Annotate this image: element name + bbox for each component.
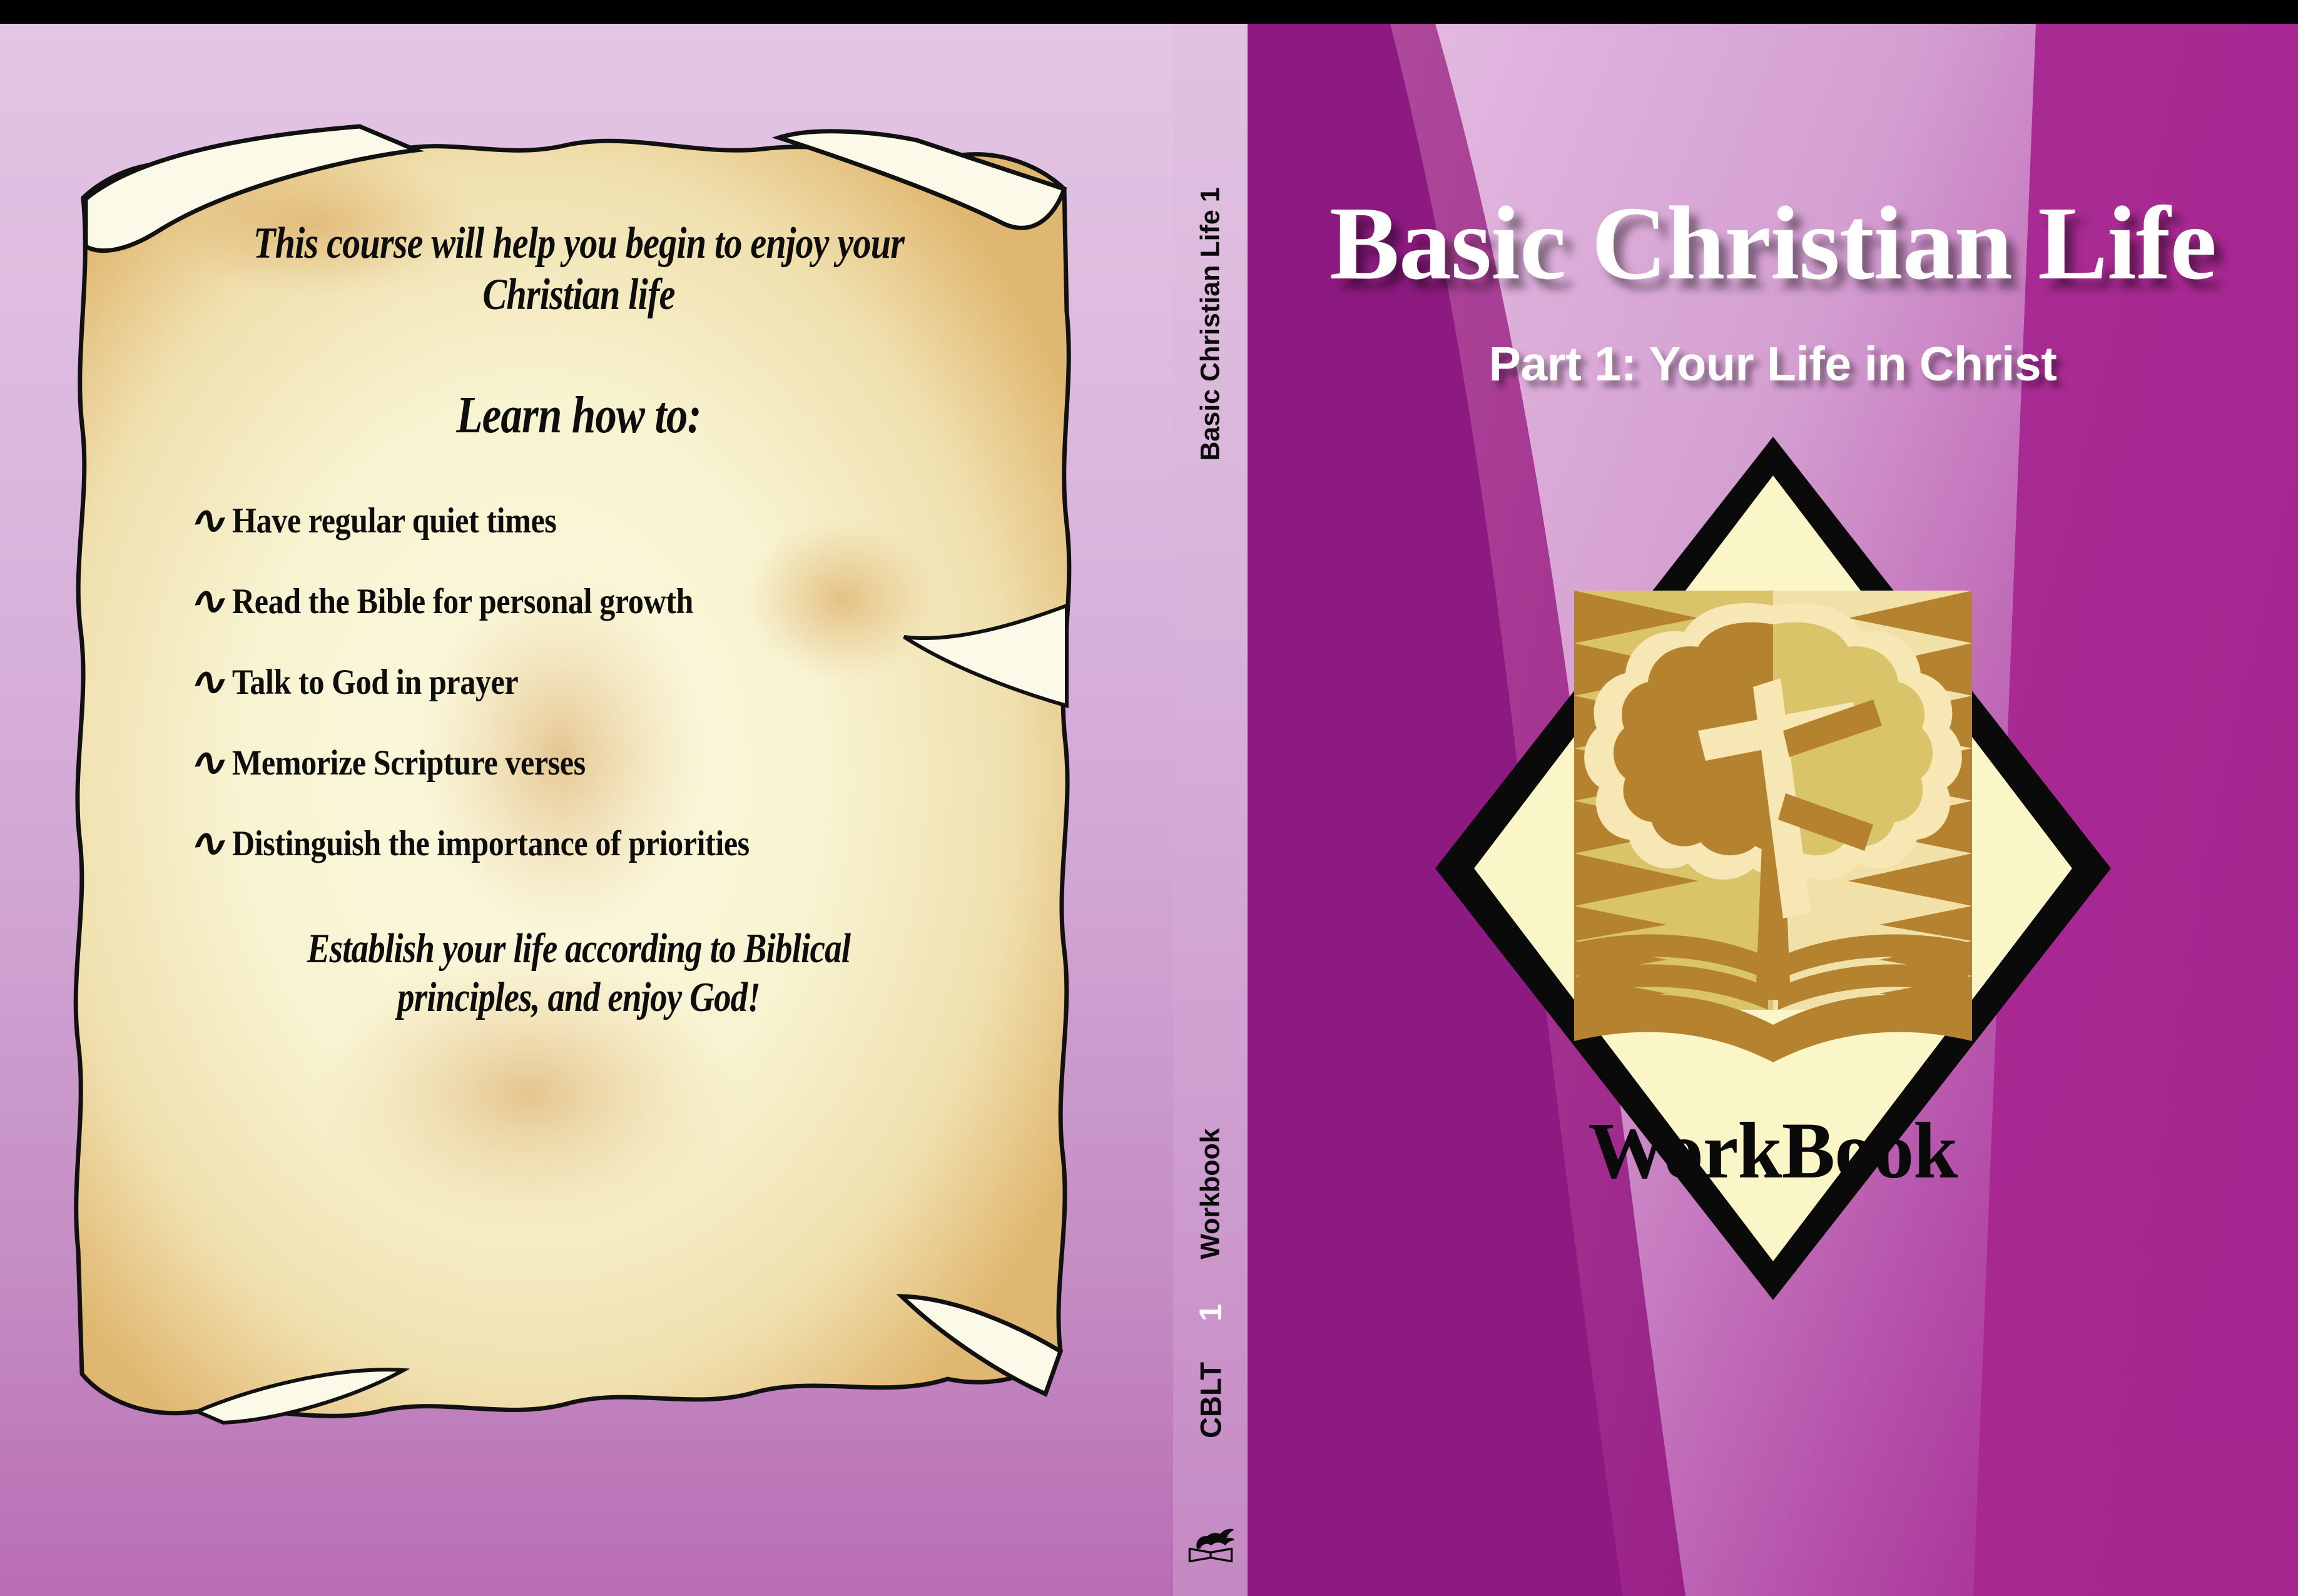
list-item-label: Talk to God in prayer [232, 662, 518, 703]
front-cover-panel: Basic Christian Life Part 1: Your Life i… [1248, 24, 2298, 1596]
list-item-label: Read the Bible for personal growth [232, 581, 693, 622]
back-intro-text: This course will help you begin to enjoy… [235, 218, 923, 321]
list-item: ∿ Distinguish the importance of prioriti… [191, 823, 998, 864]
back-section-heading: Learn how to: [235, 385, 923, 445]
spine-panel: Basic Christian Life 1 Workbook 1 CBLT [1173, 24, 1248, 1596]
dove-over-open-book-icon [1184, 1514, 1237, 1567]
squiggle-bullet-icon: ∿ [186, 661, 238, 704]
back-closing-text: Establish your life according to Biblica… [235, 924, 923, 1022]
list-item-label: Have regular quiet times [232, 501, 556, 541]
list-item: ∿ Talk to God in prayer [191, 662, 998, 703]
parchment-scroll-graphic: This course will help you begin to enjoy… [66, 124, 1082, 1431]
page-subtitle: Part 1: Your Life in Christ [1248, 337, 2298, 392]
spine-format-label: Workbook [1195, 1128, 1226, 1259]
spine-course-code: CBLT [1193, 1362, 1228, 1438]
list-item: ∿ Memorize Scripture verses [191, 743, 998, 783]
list-item: ∿ Have regular quiet times [191, 501, 998, 541]
back-cover-panel: This course will help you begin to enjoy… [0, 24, 1173, 1596]
squiggle-bullet-icon: ∿ [186, 822, 238, 865]
format-badge: WorkBook [1248, 1105, 2298, 1197]
spine-volume-number: 1 [1192, 1304, 1229, 1321]
list-item-label: Distinguish the importance of priorities [232, 823, 750, 864]
back-cover-copy: This course will help you begin to enjoy… [160, 218, 998, 1344]
list-item: ∿ Read the Bible for personal growth [191, 581, 998, 622]
squiggle-bullet-icon: ∿ [186, 741, 238, 785]
book-cover-artwork: This course will help you begin to enjoy… [0, 0, 2298, 1596]
emblem-artwork [1574, 591, 1972, 1062]
spine-title: Basic Christian Life 1 [1195, 187, 1226, 460]
back-benefits-list: ∿ Have regular quiet times ∿ Read the Bi… [160, 501, 998, 864]
page-title: Basic Christian Life [1248, 183, 2298, 304]
squiggle-bullet-icon: ∿ [186, 580, 238, 623]
squiggle-bullet-icon: ∿ [186, 499, 238, 542]
list-item-label: Memorize Scripture verses [232, 743, 586, 783]
